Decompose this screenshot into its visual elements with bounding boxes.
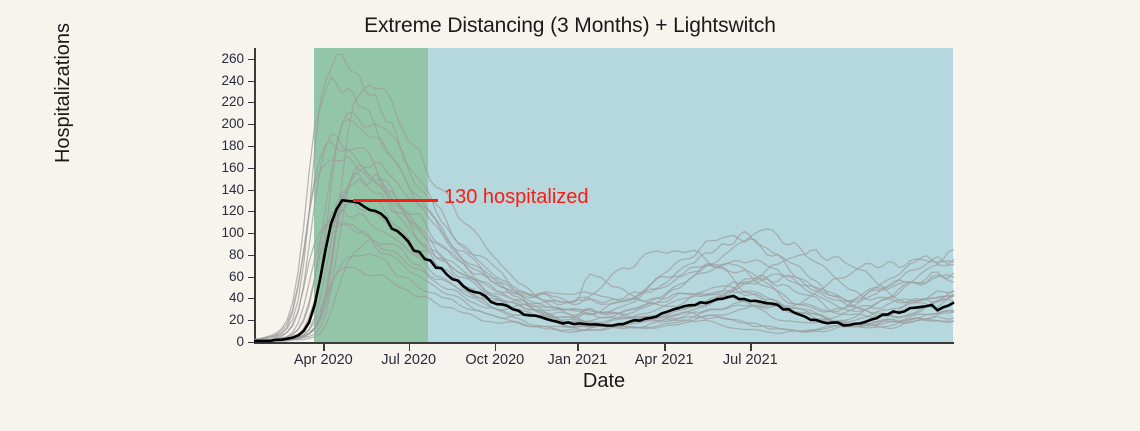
x-tick-label: Apr 2021 bbox=[619, 352, 709, 368]
chart-figure: Extreme Distancing (3 Months) + Lightswi… bbox=[0, 0, 1140, 431]
x-tick-label: Jul 2021 bbox=[705, 352, 795, 368]
ensemble-curve bbox=[254, 202, 954, 342]
x-tick-mark bbox=[750, 344, 751, 351]
x-tick-mark bbox=[409, 344, 410, 351]
series-curves bbox=[254, 48, 954, 342]
x-tick-label: Jan 2021 bbox=[532, 352, 622, 368]
x-axis-line bbox=[254, 342, 954, 344]
y-tick-label: 60 bbox=[198, 269, 244, 284]
y-tick-label: 260 bbox=[198, 51, 244, 66]
y-tick-label: 40 bbox=[198, 290, 244, 305]
annotation-label: 130 hospitalized bbox=[444, 186, 589, 209]
chart-title: Extreme Distancing (3 Months) + Lightswi… bbox=[0, 14, 1140, 38]
y-tick-label: 160 bbox=[198, 160, 244, 175]
x-tick-mark bbox=[323, 344, 324, 351]
y-tick-label: 120 bbox=[198, 203, 244, 218]
x-tick-mark bbox=[495, 344, 496, 351]
annotation-leader-line bbox=[353, 199, 438, 202]
y-tick-label: 20 bbox=[198, 312, 244, 327]
y-axis-label: Hospitalizations bbox=[52, 0, 78, 218]
ensemble-curve bbox=[254, 77, 954, 339]
y-tick-label: 180 bbox=[198, 138, 244, 153]
x-tick-label: Apr 2020 bbox=[278, 352, 368, 368]
x-axis-label: Date bbox=[254, 370, 954, 393]
y-tick-label: 200 bbox=[198, 116, 244, 131]
x-tick-mark bbox=[664, 344, 665, 351]
y-tick-label: 140 bbox=[198, 182, 244, 197]
x-tick-mark bbox=[577, 344, 578, 351]
y-tick-mark bbox=[248, 342, 254, 343]
y-tick-label: 100 bbox=[198, 225, 244, 240]
x-tick-label: Oct 2020 bbox=[450, 352, 540, 368]
ensemble-curve bbox=[254, 169, 954, 341]
ensemble-curve bbox=[254, 173, 954, 341]
y-tick-label: 220 bbox=[198, 94, 244, 109]
x-tick-label: Jul 2020 bbox=[364, 352, 454, 368]
y-tick-label: 80 bbox=[198, 247, 244, 262]
plot-area bbox=[254, 48, 954, 342]
y-tick-label: 0 bbox=[198, 334, 244, 349]
y-tick-label: 240 bbox=[198, 73, 244, 88]
